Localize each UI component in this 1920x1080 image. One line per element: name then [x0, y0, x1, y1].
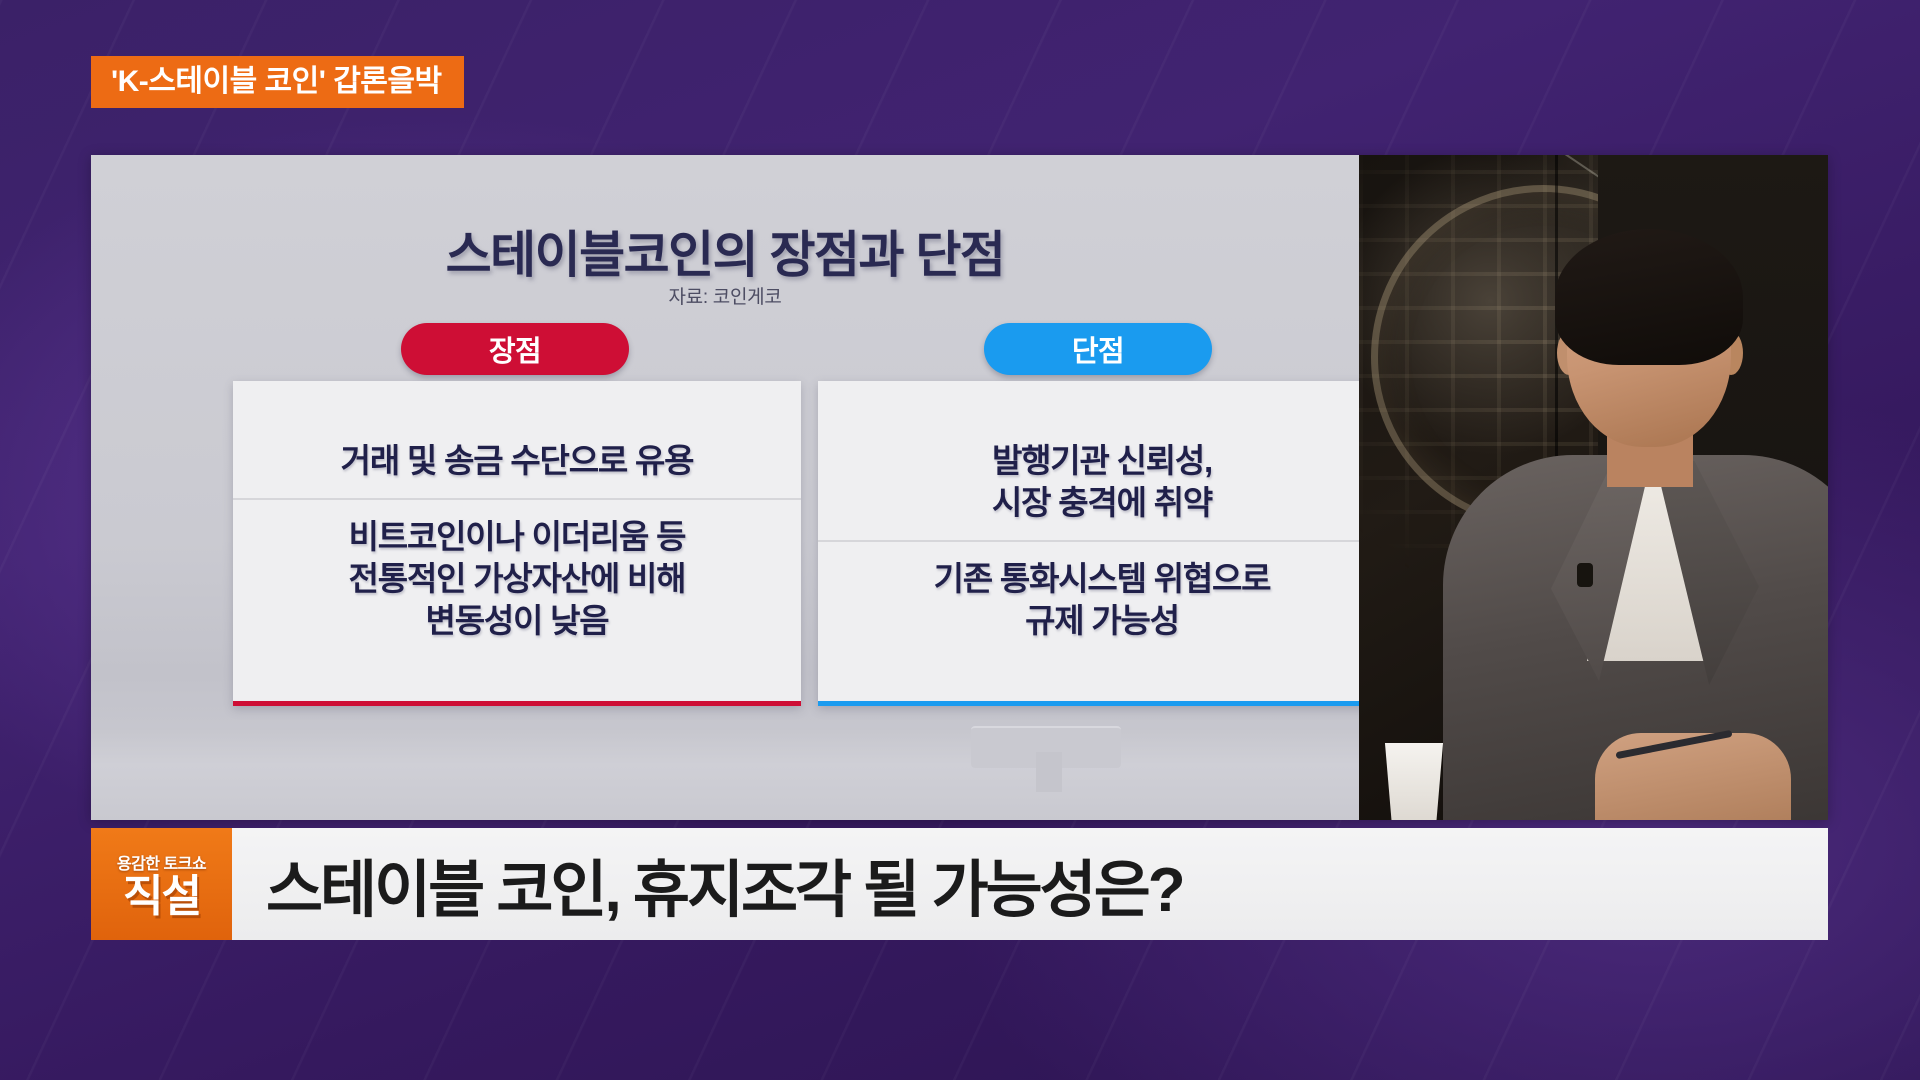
studio-camera-feed [1359, 155, 1828, 820]
infographic-panel: 스테이블코인의 장점과 단점 자료: 코인게코 장점 단점 거래 및 송금 수단… [91, 155, 1828, 820]
studio-desk [91, 728, 1359, 820]
cons-badge: 단점 [984, 323, 1212, 375]
headline-bar: 스테이블 코인, 휴지조각 될 가능성은? [232, 828, 1828, 940]
pros-item: 비트코인이나 이더리움 등전통적인 가상자산에 비해변동성이 낮음 [233, 498, 801, 659]
pros-card: 거래 및 송금 수단으로 유용 비트코인이나 이더리움 등전통적인 가상자산에 … [233, 381, 801, 706]
broadcast-screen: 'K-스테이블 코인' 갑론을박 스테이블코인의 장점과 단점 자료: 코인게코… [0, 0, 1920, 1080]
program-topic-banner: 'K-스테이블 코인' 갑론을박 [91, 56, 464, 108]
cons-item: 발행기관 신뢰성,시장 충격에 취약 [818, 424, 1386, 540]
pros-badge-label: 장점 [489, 328, 541, 370]
program-logo-subtitle: 용감한 토크쇼 [117, 850, 206, 874]
lower-third-banner: 용감한 토크쇼 직설 스테이블 코인, 휴지조각 될 가능성은? [91, 828, 1828, 940]
headline-text: 스테이블 코인, 휴지조각 될 가능성은? [266, 839, 1183, 929]
cons-badge-label: 단점 [1072, 328, 1124, 370]
cons-card: 발행기관 신뢰성,시장 충격에 취약 기존 통화시스템 위협으로규제 가능성 [818, 381, 1386, 706]
paper-cup-icon [1381, 743, 1447, 820]
guest-hands [1595, 733, 1791, 820]
cons-item: 기존 통화시스템 위협으로규제 가능성 [818, 540, 1386, 658]
program-logo-title: 직설 [123, 876, 200, 918]
lapel-microphone-icon [1577, 563, 1593, 587]
desk-monitor-neck [1036, 752, 1062, 792]
program-logo: 용감한 토크쇼 직설 [91, 828, 232, 940]
pros-item: 거래 및 송금 수단으로 유용 [233, 424, 801, 498]
guest-hair [1555, 229, 1743, 365]
infographic-source: 자료: 코인게코 [91, 282, 1359, 309]
program-topic-text: 'K-스테이블 코인' 갑론을박 [111, 67, 442, 97]
pros-badge: 장점 [401, 323, 629, 375]
infographic-title: 스테이블코인의 장점과 단점 [91, 215, 1359, 287]
